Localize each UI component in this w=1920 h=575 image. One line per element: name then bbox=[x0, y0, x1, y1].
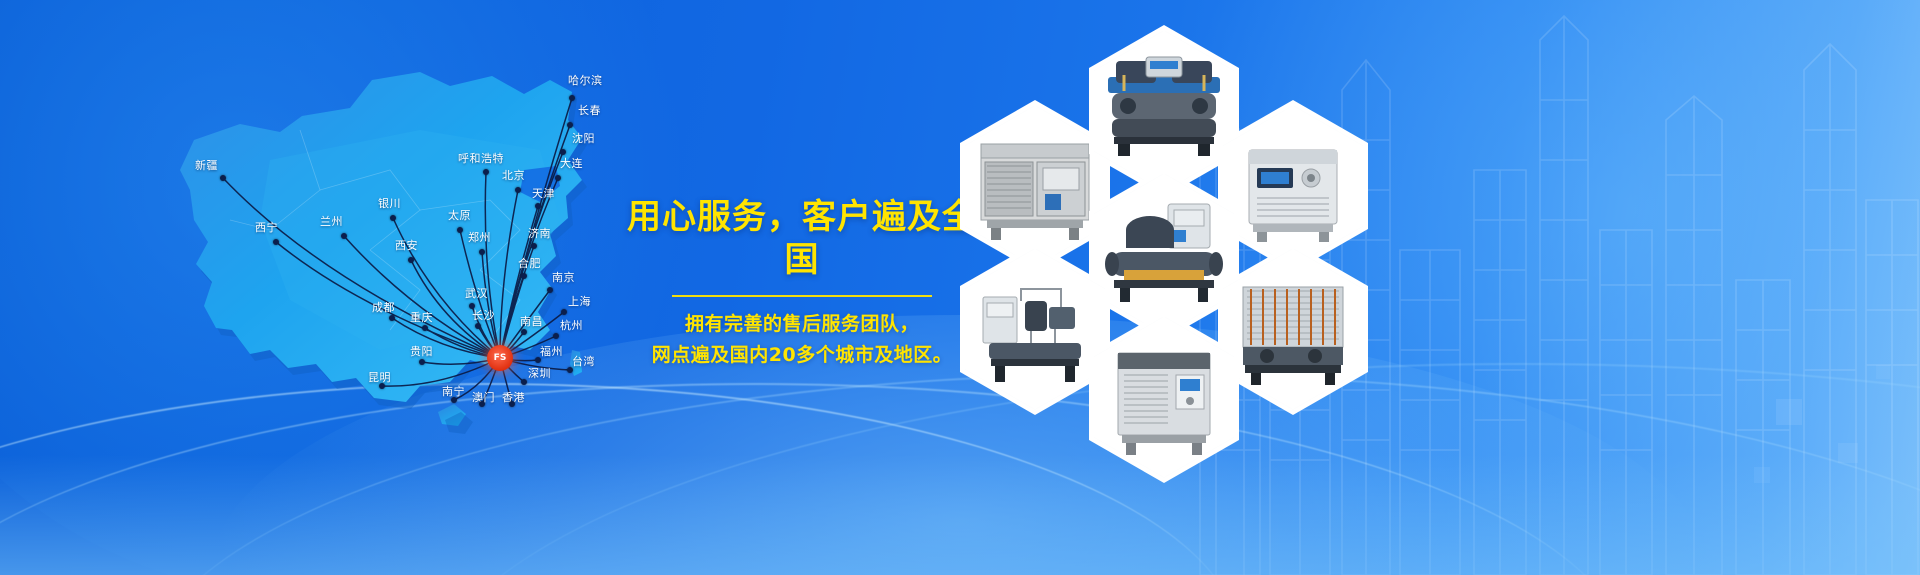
city-dot-8 bbox=[390, 215, 396, 221]
coil-condenser-unit-image bbox=[1223, 249, 1363, 410]
city-dot-16 bbox=[547, 287, 553, 293]
city-dot-28 bbox=[521, 379, 527, 385]
city-dot-21 bbox=[521, 329, 527, 335]
city-label-6: 大连 bbox=[560, 158, 583, 169]
city-dot-11 bbox=[273, 239, 279, 245]
city-dot-17 bbox=[561, 309, 567, 315]
city-dot-7 bbox=[535, 203, 541, 209]
city-dot-6 bbox=[555, 175, 561, 181]
city-dot-18 bbox=[553, 333, 559, 339]
small-box-chiller-image bbox=[1223, 106, 1363, 267]
city-dot-23 bbox=[389, 315, 395, 321]
banner-text-block: 用心服务，客户遍及全国 拥有完善的售后服务团队， 网点遍及国内20多个城市及地区… bbox=[612, 196, 992, 372]
city-label-5: 北京 bbox=[502, 170, 525, 181]
city-dot-20 bbox=[475, 323, 481, 329]
hub-marker[interactable]: FS bbox=[487, 345, 513, 371]
city-dot-24 bbox=[422, 325, 428, 331]
city-label-19: 武汉 bbox=[465, 288, 488, 299]
city-label-7: 天津 bbox=[532, 188, 555, 199]
banner-headline: 用心服务，客户遍及全国 bbox=[612, 196, 992, 281]
city-dot-25 bbox=[419, 359, 425, 365]
city-dot-30 bbox=[509, 401, 515, 407]
water-cooled-screw-chiller-image bbox=[1094, 31, 1234, 192]
city-dot-12 bbox=[479, 249, 485, 255]
city-label-0: 新疆 bbox=[195, 160, 218, 171]
city-label-10: 兰州 bbox=[320, 216, 343, 227]
air-cooled-box-chiller-image bbox=[965, 106, 1105, 267]
city-dot-4 bbox=[483, 169, 489, 175]
city-label-9: 太原 bbox=[448, 210, 471, 221]
banner-subtitle-line-1: 拥有完善的售后服务团队， bbox=[612, 309, 992, 340]
city-label-28: 深圳 bbox=[528, 368, 551, 379]
city-dot-1 bbox=[569, 95, 575, 101]
city-dot-26 bbox=[379, 383, 385, 389]
city-dot-13 bbox=[408, 257, 414, 263]
city-label-21: 南昌 bbox=[520, 316, 543, 327]
city-label-22: 福州 bbox=[540, 346, 563, 357]
horizontal-condenser-unit-image bbox=[1094, 174, 1234, 335]
banner-subtitle-line-2: 网点遍及国内20多个城市及地区。 bbox=[612, 340, 992, 371]
city-label-23: 成都 bbox=[372, 302, 395, 313]
city-label-26: 昆明 bbox=[368, 372, 391, 383]
city-label-25: 贵阳 bbox=[410, 346, 433, 357]
promo-banner: 新疆哈尔滨长春沈阳呼和浩特北京大连天津银川太原兰州西宁郑州西安济南合肥南京上海杭… bbox=[0, 0, 1920, 575]
product-hex-coil-condenser-unit[interactable] bbox=[1218, 243, 1368, 415]
city-label-4: 呼和浩特 bbox=[458, 153, 504, 164]
city-label-27: 南宁 bbox=[442, 386, 465, 397]
city-label-12: 郑州 bbox=[468, 232, 491, 243]
product-hex-compressor-skid-unit[interactable] bbox=[960, 243, 1110, 415]
city-label-14: 济南 bbox=[528, 228, 551, 239]
compressor-skid-unit-image bbox=[965, 249, 1105, 410]
city-dot-14 bbox=[531, 243, 537, 249]
city-label-3: 沈阳 bbox=[572, 133, 595, 144]
city-dot-22 bbox=[535, 357, 541, 363]
city-label-1: 哈尔滨 bbox=[568, 75, 603, 86]
city-dot-29 bbox=[479, 401, 485, 407]
city-label-13: 西安 bbox=[395, 240, 418, 251]
city-label-16: 南京 bbox=[552, 272, 575, 283]
city-label-2: 长春 bbox=[578, 105, 601, 116]
city-dot-2 bbox=[567, 122, 573, 128]
city-dot-27 bbox=[451, 397, 457, 403]
headline-divider bbox=[672, 295, 932, 297]
city-dot-5 bbox=[515, 187, 521, 193]
city-dot-15 bbox=[521, 273, 527, 279]
city-label-15: 合肥 bbox=[518, 258, 541, 269]
city-label-8: 银川 bbox=[378, 198, 401, 209]
city-dot-0 bbox=[220, 175, 226, 181]
city-label-17: 上海 bbox=[568, 296, 591, 307]
city-label-24: 重庆 bbox=[410, 312, 433, 323]
hub-label: FS bbox=[494, 353, 507, 363]
city-label-11: 西宁 bbox=[255, 222, 278, 233]
city-dot-10 bbox=[341, 233, 347, 239]
city-dot-3 bbox=[560, 149, 566, 155]
city-label-20: 长沙 bbox=[472, 310, 495, 321]
city-dot-31 bbox=[567, 367, 573, 373]
city-label-18: 杭州 bbox=[560, 320, 583, 331]
product-hex-gallery bbox=[960, 0, 1520, 575]
cabinet-chiller-image bbox=[1094, 317, 1234, 478]
city-label-31: 台湾 bbox=[572, 356, 595, 367]
city-dot-9 bbox=[457, 227, 463, 233]
product-hex-cabinet-chiller[interactable] bbox=[1089, 311, 1239, 483]
